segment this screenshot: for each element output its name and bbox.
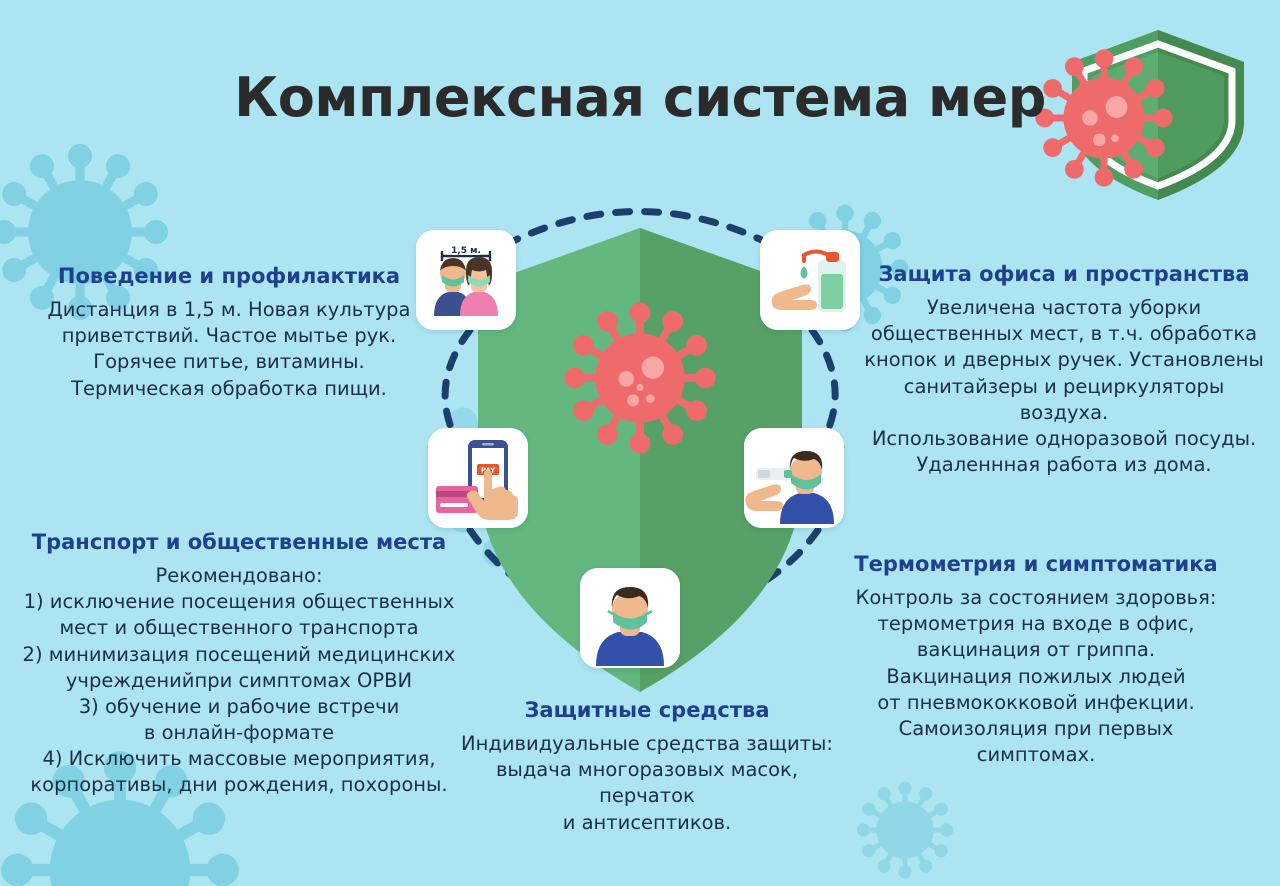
text-line: 1) исключение посещения общественных [22, 589, 456, 615]
text-line: от пневмококковой инфекции. [836, 690, 1236, 716]
block-behavior-body: Дистанция в 1,5 м. Новая культура привет… [34, 297, 424, 402]
text-line: Дистанция в 1,5 м. Новая культура [34, 297, 424, 323]
text-line: корпоративы, дни рождения, похороны. [22, 772, 456, 798]
text-line: Удаленнная работа из дома. [858, 452, 1270, 478]
text-line: термометрия на входе в офис, [836, 611, 1236, 637]
hand-sanitizer-icon [760, 230, 860, 330]
text-line: приветствий. Частое мытье рук. [34, 323, 424, 349]
block-thermometry: Термометрия и симптоматика Контроль за с… [836, 552, 1236, 768]
text-line: выдача многоразовых масок, перчаток [452, 757, 842, 809]
text-line: Использование одноразовой посуды. [858, 426, 1270, 452]
text-line: 4) Исключить массовые мероприятия, [22, 746, 456, 772]
text-line: учрежденийпри симптомах ОРВИ [22, 668, 456, 694]
text-line: вакцинация от гриппа. [836, 637, 1236, 663]
forehead-thermometer-icon [744, 428, 844, 528]
text-line: кнопок и дверных ручек. Установлены [858, 347, 1270, 373]
text-line: 2) минимизация посещений медицинских [22, 642, 456, 668]
block-thermometry-body: Контроль за состоянием здоровья: термоме… [836, 585, 1236, 768]
text-line: Увеличена частота уборки [858, 295, 1270, 321]
text-line: Рекомендовано: [22, 563, 456, 589]
face-mask-icon [580, 568, 680, 668]
block-transport-heading: Транспорт и общественные места [22, 530, 456, 555]
decorative-virus-bottom-right [857, 782, 954, 879]
text-line: Контроль за состоянием здоровья: [836, 585, 1236, 611]
block-transport: Транспорт и общественные места Рекомендо… [22, 530, 456, 798]
block-office: Защита офиса и пространства Увеличена ча… [858, 262, 1270, 478]
block-office-heading: Защита офиса и пространства [858, 262, 1270, 287]
block-protection-body: Индивидуальные средства защиты: выдача м… [452, 731, 842, 836]
block-transport-body: Рекомендовано: 1) исключение посещения о… [22, 563, 456, 798]
page-title: Комплексная система мер [0, 66, 1280, 129]
text-line: Термическая обработка пищи. [34, 376, 424, 402]
social-distance-icon: 1,5 м. [416, 230, 516, 330]
text-line: и антисептиков. [452, 810, 842, 836]
svg-text:1,5 м.: 1,5 м. [451, 246, 481, 256]
text-line: симптомах. [836, 742, 1236, 768]
block-behavior-heading: Поведение и профилактика [34, 264, 424, 289]
text-line: 3) обучение и рабочие встречи [22, 694, 456, 720]
block-behavior: Поведение и профилактика Дистанция в 1,5… [34, 264, 424, 402]
text-line: Вакцинация пожилых людей [836, 664, 1236, 690]
block-office-body: Увеличена частота уборки общественных ме… [858, 295, 1270, 478]
text-line: Горячее питье, витамины. [34, 349, 424, 375]
block-thermometry-heading: Термометрия и симптоматика [836, 552, 1236, 577]
block-protection: Защитные средства Индивидуальные средств… [452, 698, 842, 836]
text-line: мест и общественного транспорта [22, 615, 456, 641]
text-line: в онлайн-формате [22, 720, 456, 746]
infographic-poster: Комплексная система мер 1,5 м. [0, 0, 1280, 886]
connector-right-upper [812, 330, 835, 430]
text-line: санитайзеры и рециркуляторы воздуха. [858, 374, 1270, 426]
text-line: Самоизоляция при первых [836, 716, 1236, 742]
contactless-payment-icon: PAY [428, 428, 528, 528]
text-line: Индивидуальные средства защиты: [452, 731, 842, 757]
text-line: общественных мест, в т.ч. обработка [858, 321, 1270, 347]
block-protection-heading: Защитные средства [452, 698, 842, 723]
